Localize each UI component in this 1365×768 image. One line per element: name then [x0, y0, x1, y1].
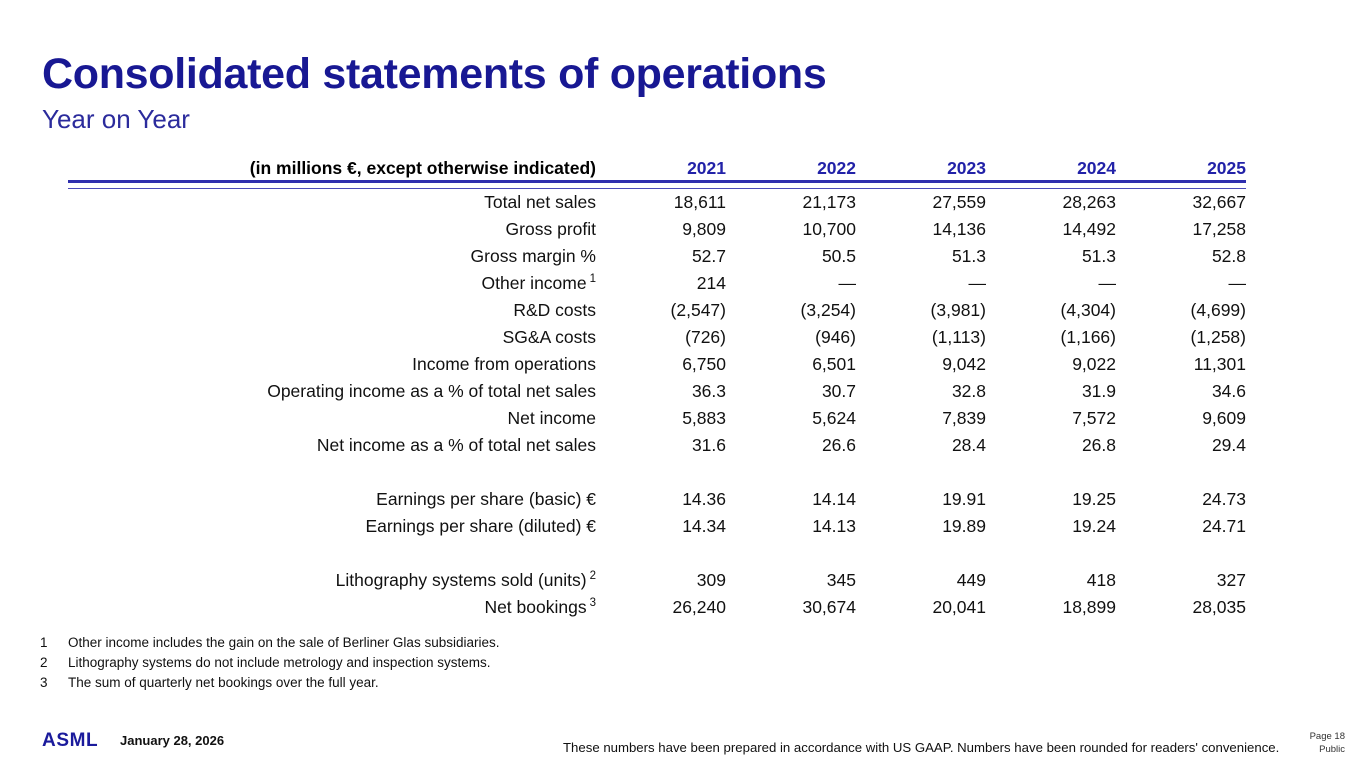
cell-value: 9,809	[596, 216, 726, 243]
row-label-text: SG&A costs	[503, 327, 596, 347]
table-row: Operating income as a % of total net sal…	[68, 378, 1246, 405]
row-label: Income from operations	[68, 351, 596, 378]
cell-value: (1,113)	[856, 324, 986, 351]
cell-value: 19.24	[986, 513, 1116, 540]
classification-label: Public	[1310, 743, 1345, 756]
table-row: Gross margin %52.750.551.351.352.8	[68, 243, 1246, 270]
cell-value: (726)	[596, 324, 726, 351]
cell-value: 36.3	[596, 378, 726, 405]
cell-value: 418	[986, 567, 1116, 594]
footer-date: January 28, 2026	[120, 733, 224, 748]
cell-value: 9,042	[856, 351, 986, 378]
cell-value: (3,254)	[726, 297, 856, 324]
cell-value: 50.5	[726, 243, 856, 270]
cell-value: 30,674	[726, 594, 856, 621]
row-label: SG&A costs	[68, 324, 596, 351]
row-label: Net income	[68, 405, 596, 432]
cell-value: —	[1116, 270, 1246, 297]
cell-value: 17,258	[1116, 216, 1246, 243]
cell-value: 31.6	[596, 432, 726, 459]
row-label: Operating income as a % of total net sal…	[68, 378, 596, 405]
cell-value: 26.8	[986, 432, 1116, 459]
financial-table-container: (in millions €, except otherwise indicat…	[68, 156, 1246, 621]
footnote-item: 1Other income includes the gain on the s…	[40, 633, 840, 653]
footnotes-list: 1Other income includes the gain on the s…	[40, 633, 840, 693]
footnote-text: The sum of quarterly net bookings over t…	[68, 675, 379, 690]
row-label: Lithography systems sold (units)2	[68, 567, 596, 594]
cell-value: 29.4	[1116, 432, 1246, 459]
cell-value: (3,981)	[856, 297, 986, 324]
cell-value: 6,750	[596, 351, 726, 378]
table-row: Other income1214————	[68, 270, 1246, 297]
footnote-number: 3	[40, 673, 68, 693]
footnote-text: Lithography systems do not include metro…	[68, 655, 490, 670]
cell-value: 20,041	[856, 594, 986, 621]
table-row: Earnings per share (diluted) €14.3414.13…	[68, 513, 1246, 540]
table-spacer-row	[68, 459, 1246, 486]
row-label-text: Net income	[507, 408, 596, 428]
cell-value: 7,839	[856, 405, 986, 432]
cell-value: 449	[856, 567, 986, 594]
column-header-year-2025: 2025	[1116, 156, 1246, 180]
row-label-text: Lithography systems sold (units)	[336, 570, 587, 590]
cell-value: 24.71	[1116, 513, 1246, 540]
cell-value: 18,611	[596, 189, 726, 216]
row-label-text: Operating income as a % of total net sal…	[267, 381, 596, 401]
table-unit-label: (in millions €, except otherwise indicat…	[68, 156, 596, 180]
cell-value: 32,667	[1116, 189, 1246, 216]
row-footnote-marker: 2	[587, 570, 596, 582]
header-double-rule	[68, 180, 1246, 189]
cell-value: 19.91	[856, 486, 986, 513]
page-subtitle: Year on Year	[42, 105, 1242, 134]
cell-value: 51.3	[856, 243, 986, 270]
cell-value: 214	[596, 270, 726, 297]
cell-value: 14,136	[856, 216, 986, 243]
cell-value: 327	[1116, 567, 1246, 594]
row-label-text: Income from operations	[412, 354, 596, 374]
cell-value: (2,547)	[596, 297, 726, 324]
row-label: Total net sales	[68, 189, 596, 216]
cell-value: 14.36	[596, 486, 726, 513]
cell-value: 18,899	[986, 594, 1116, 621]
spacer-cell	[68, 459, 1246, 486]
row-label-text: Total net sales	[484, 192, 596, 212]
row-label-text: Gross margin %	[471, 246, 596, 266]
cell-value: (4,699)	[1116, 297, 1246, 324]
cell-value: 28,035	[1116, 594, 1246, 621]
footnote-number: 1	[40, 633, 68, 653]
table-row: Net income as a % of total net sales31.6…	[68, 432, 1246, 459]
row-label: Gross margin %	[68, 243, 596, 270]
row-label: Other income1	[68, 270, 596, 297]
cell-value: 19.89	[856, 513, 986, 540]
row-label-text: Net bookings	[484, 597, 586, 617]
cell-value: —	[986, 270, 1116, 297]
column-header-year-2022: 2022	[726, 156, 856, 180]
row-label: Gross profit	[68, 216, 596, 243]
cell-value: 34.6	[1116, 378, 1246, 405]
consolidated-statements-table: (in millions €, except otherwise indicat…	[68, 156, 1246, 621]
cell-value: 14,492	[986, 216, 1116, 243]
cell-value: 27,559	[856, 189, 986, 216]
row-label-text: Other income	[482, 273, 587, 293]
row-label-text: R&D costs	[513, 300, 596, 320]
row-label: Earnings per share (diluted) €	[68, 513, 596, 540]
row-label-text: Net income as a % of total net sales	[317, 435, 596, 455]
table-row: R&D costs(2,547)(3,254)(3,981)(4,304)(4,…	[68, 297, 1246, 324]
cell-value: 14.14	[726, 486, 856, 513]
cell-value: 52.8	[1116, 243, 1246, 270]
cell-value: 309	[596, 567, 726, 594]
row-label: Net income as a % of total net sales	[68, 432, 596, 459]
cell-value: 24.73	[1116, 486, 1246, 513]
table-row: Lithography systems sold (units)23093454…	[68, 567, 1246, 594]
cell-value: (1,258)	[1116, 324, 1246, 351]
table-row: Net bookings326,24030,67420,04118,89928,…	[68, 594, 1246, 621]
cell-value: —	[726, 270, 856, 297]
row-label-text: Gross profit	[506, 219, 596, 239]
asml-logo: ASML	[42, 730, 98, 752]
cell-value: (946)	[726, 324, 856, 351]
footnote-number: 2	[40, 653, 68, 673]
table-row: Total net sales18,61121,17327,55928,2633…	[68, 189, 1246, 216]
table-row: Income from operations6,7506,5019,0429,0…	[68, 351, 1246, 378]
row-label: Earnings per share (basic) €	[68, 486, 596, 513]
table-row: Gross profit9,80910,70014,13614,49217,25…	[68, 216, 1246, 243]
cell-value: 6,501	[726, 351, 856, 378]
cell-value: (1,166)	[986, 324, 1116, 351]
cell-value: (4,304)	[986, 297, 1116, 324]
table-header-row: (in millions €, except otherwise indicat…	[68, 156, 1246, 180]
cell-value: 10,700	[726, 216, 856, 243]
column-header-year-2021: 2021	[596, 156, 726, 180]
cell-value: 14.13	[726, 513, 856, 540]
cell-value: 21,173	[726, 189, 856, 216]
cell-value: 14.34	[596, 513, 726, 540]
row-label: R&D costs	[68, 297, 596, 324]
cell-value: 7,572	[986, 405, 1116, 432]
footnote-item: 3The sum of quarterly net bookings over …	[40, 673, 840, 693]
table-row: SG&A costs(726)(946)(1,113)(1,166)(1,258…	[68, 324, 1246, 351]
cell-value: 51.3	[986, 243, 1116, 270]
cell-value: —	[856, 270, 986, 297]
cell-value: 26,240	[596, 594, 726, 621]
footnote-item: 2Lithography systems do not include metr…	[40, 653, 840, 673]
column-header-year-2023: 2023	[856, 156, 986, 180]
header-rule-cell	[68, 180, 1246, 189]
footnote-text: Other income includes the gain on the sa…	[68, 635, 499, 650]
row-label: Net bookings3	[68, 594, 596, 621]
page-number: Page 18	[1310, 730, 1345, 743]
table-row: Net income5,8835,6247,8397,5729,609	[68, 405, 1246, 432]
cell-value: 28.4	[856, 432, 986, 459]
row-label-text: Earnings per share (diluted) €	[365, 516, 596, 536]
table-row: Earnings per share (basic) €14.3614.1419…	[68, 486, 1246, 513]
cell-value: 32.8	[856, 378, 986, 405]
title-block: Consolidated statements of operations Ye…	[42, 52, 1242, 134]
cell-value: 52.7	[596, 243, 726, 270]
cell-value: 19.25	[986, 486, 1116, 513]
spacer-cell	[68, 540, 1246, 567]
header-rule-row	[68, 180, 1246, 189]
row-label-text: Earnings per share (basic) €	[376, 489, 596, 509]
table-spacer-row	[68, 540, 1246, 567]
footer-disclaimer: These numbers have been prepared in acco…	[563, 740, 1279, 755]
column-header-year-2024: 2024	[986, 156, 1116, 180]
cell-value: 26.6	[726, 432, 856, 459]
cell-value: 9,022	[986, 351, 1116, 378]
cell-value: 28,263	[986, 189, 1116, 216]
page-title: Consolidated statements of operations	[42, 52, 1242, 97]
cell-value: 31.9	[986, 378, 1116, 405]
row-footnote-marker: 1	[587, 273, 596, 285]
cell-value: 30.7	[726, 378, 856, 405]
cell-value: 5,883	[596, 405, 726, 432]
cell-value: 5,624	[726, 405, 856, 432]
cell-value: 9,609	[1116, 405, 1246, 432]
cell-value: 11,301	[1116, 351, 1246, 378]
cell-value: 345	[726, 567, 856, 594]
table-body: Total net sales18,61121,17327,55928,2633…	[68, 189, 1246, 621]
row-footnote-marker: 3	[587, 597, 596, 609]
footer-page-info: Page 18 Public	[1310, 730, 1345, 756]
